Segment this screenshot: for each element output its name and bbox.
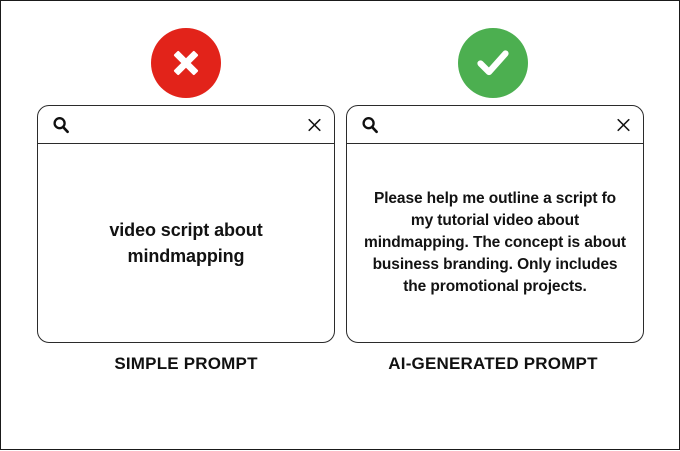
search-bar-simple[interactable] (38, 106, 334, 144)
comparison-column-ai-generated: Please help me outline a script fo my tu… (341, 1, 645, 451)
status-badge-success (458, 28, 528, 98)
prompt-card-ai-generated[interactable]: Please help me outline a script fo my tu… (346, 105, 644, 343)
prompt-comparison: video script about mindmapping SIMPLE PR… (1, 1, 680, 451)
search-icon (52, 116, 70, 134)
caption-ai-generated-prompt: AI-GENERATED PROMPT (341, 354, 645, 374)
search-bar-ai-generated[interactable] (347, 106, 643, 144)
prompt-card-body-ai-generated: Please help me outline a script fo my tu… (347, 144, 643, 342)
check-circle-icon (472, 42, 514, 84)
search-icon (361, 116, 379, 134)
cross-circle-icon (166, 43, 206, 83)
prompt-card-body-simple: video script about mindmapping (38, 144, 334, 342)
page-frame: video script about mindmapping SIMPLE PR… (0, 0, 680, 450)
status-badge-success-wrap (341, 25, 645, 101)
status-badge-error (151, 28, 221, 98)
prompt-card-simple[interactable]: video script about mindmapping (37, 105, 335, 343)
prompt-text-ai-generated: Please help me outline a script fo my tu… (363, 188, 627, 299)
close-icon[interactable] (616, 117, 631, 132)
status-badge-error-wrap (34, 25, 338, 101)
comparison-column-simple: video script about mindmapping SIMPLE PR… (34, 1, 338, 451)
prompt-text-simple: video script about mindmapping (54, 217, 318, 269)
caption-simple-prompt: SIMPLE PROMPT (34, 354, 338, 374)
close-icon[interactable] (307, 117, 322, 132)
